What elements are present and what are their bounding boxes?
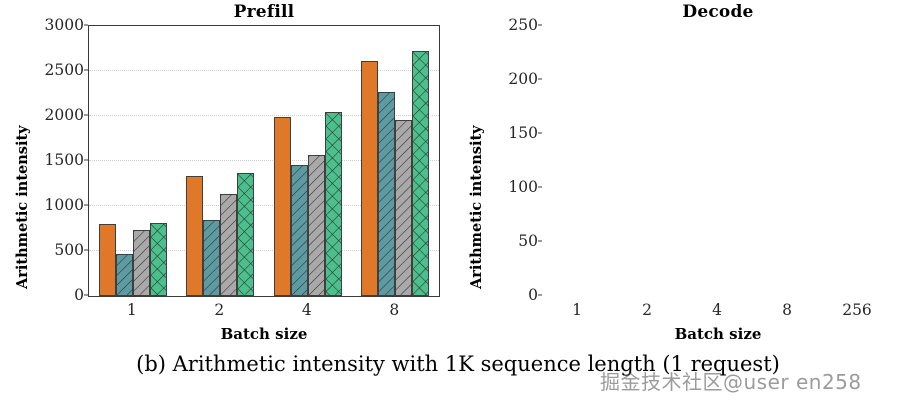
bar-postproj-4: [308, 155, 325, 296]
decode-title: Decode: [542, 2, 894, 22]
decode-y-axis-title: Arithmetic intensity: [468, 125, 485, 289]
x-axis-tick-label: 2: [642, 301, 652, 319]
y-axis-tick-mark: [84, 25, 88, 26]
bar-preproj-4: [274, 117, 291, 296]
x-axis-tick-label: 4: [302, 301, 312, 319]
bar-preproj-8: [361, 61, 378, 296]
y-axis-tick-mark: [538, 241, 542, 242]
x-axis-tick-label: 1: [572, 301, 582, 319]
x-axis-tick-label: 8: [389, 301, 399, 319]
figure-arithmetic-intensity: Prefill Arithmetic intensity Batch size …: [0, 0, 916, 416]
y-axis-tick-label: 1500: [42, 151, 84, 169]
bar-postproj-1: [133, 230, 150, 296]
x-axis-tick-label: 4: [712, 301, 722, 319]
y-axis-tick-label: 50: [496, 232, 538, 250]
bar-postproj-8: [395, 120, 412, 296]
prefill-title: Prefill: [88, 2, 440, 22]
bar-attn-2: [203, 220, 220, 296]
bar-attn-4: [291, 165, 308, 296]
y-axis-tick-mark: [538, 187, 542, 188]
x-axis-tick-label: 2: [214, 301, 224, 319]
y-axis-tick-mark: [538, 25, 542, 26]
x-axis-tick-label: 1: [127, 301, 137, 319]
gridline: [89, 25, 439, 26]
y-axis-tick-mark: [538, 79, 542, 80]
y-axis-tick-label: 3000: [42, 16, 84, 34]
bar-ffn-1: [150, 223, 167, 296]
y-axis-tick-label: 250: [496, 16, 538, 34]
panel-decode: Decode preprojattnpostprojffn Arithmetic…: [458, 0, 916, 345]
watermark: 掘金技术社区@user en258: [600, 366, 862, 395]
prefill-x-axis-title: Batch size: [88, 325, 440, 343]
y-axis-tick-label: 150: [496, 124, 538, 142]
panel-prefill: Prefill Arithmetic intensity Batch size …: [0, 0, 458, 345]
y-axis-tick-label: 0: [496, 286, 538, 304]
y-axis-tick-label: 2000: [42, 106, 84, 124]
y-axis-tick-mark: [84, 205, 88, 206]
bar-attn-1: [116, 254, 133, 296]
y-axis-tick-label: 100: [496, 178, 538, 196]
y-axis-tick-mark: [538, 295, 542, 296]
y-axis-tick-mark: [84, 115, 88, 116]
y-axis-tick-mark: [84, 70, 88, 71]
prefill-y-axis-title: Arithmetic intensity: [14, 125, 31, 289]
gridline: [89, 70, 439, 71]
bar-ffn-4: [325, 112, 342, 296]
y-axis-tick-label: 1000: [42, 196, 84, 214]
bar-attn-8: [378, 92, 395, 296]
bar-ffn-2: [237, 173, 254, 296]
bar-ffn-8: [412, 51, 429, 296]
y-axis-tick-label: 500: [42, 241, 84, 259]
y-axis-tick-label: 200: [496, 70, 538, 88]
prefill-plot-area: [88, 25, 440, 297]
y-axis-tick-label: 2500: [42, 61, 84, 79]
bar-postproj-2: [220, 194, 237, 296]
bar-preproj-1: [99, 224, 116, 296]
y-axis-tick-mark: [84, 295, 88, 296]
y-axis-tick-mark: [84, 250, 88, 251]
x-axis-tick-label: 256: [842, 301, 872, 319]
bar-preproj-2: [186, 176, 203, 296]
y-axis-tick-mark: [538, 133, 542, 134]
decode-x-axis-title: Batch size: [542, 325, 894, 343]
y-axis-tick-mark: [84, 160, 88, 161]
x-axis-tick-label: 8: [782, 301, 792, 319]
y-axis-tick-label: 0: [42, 286, 84, 304]
